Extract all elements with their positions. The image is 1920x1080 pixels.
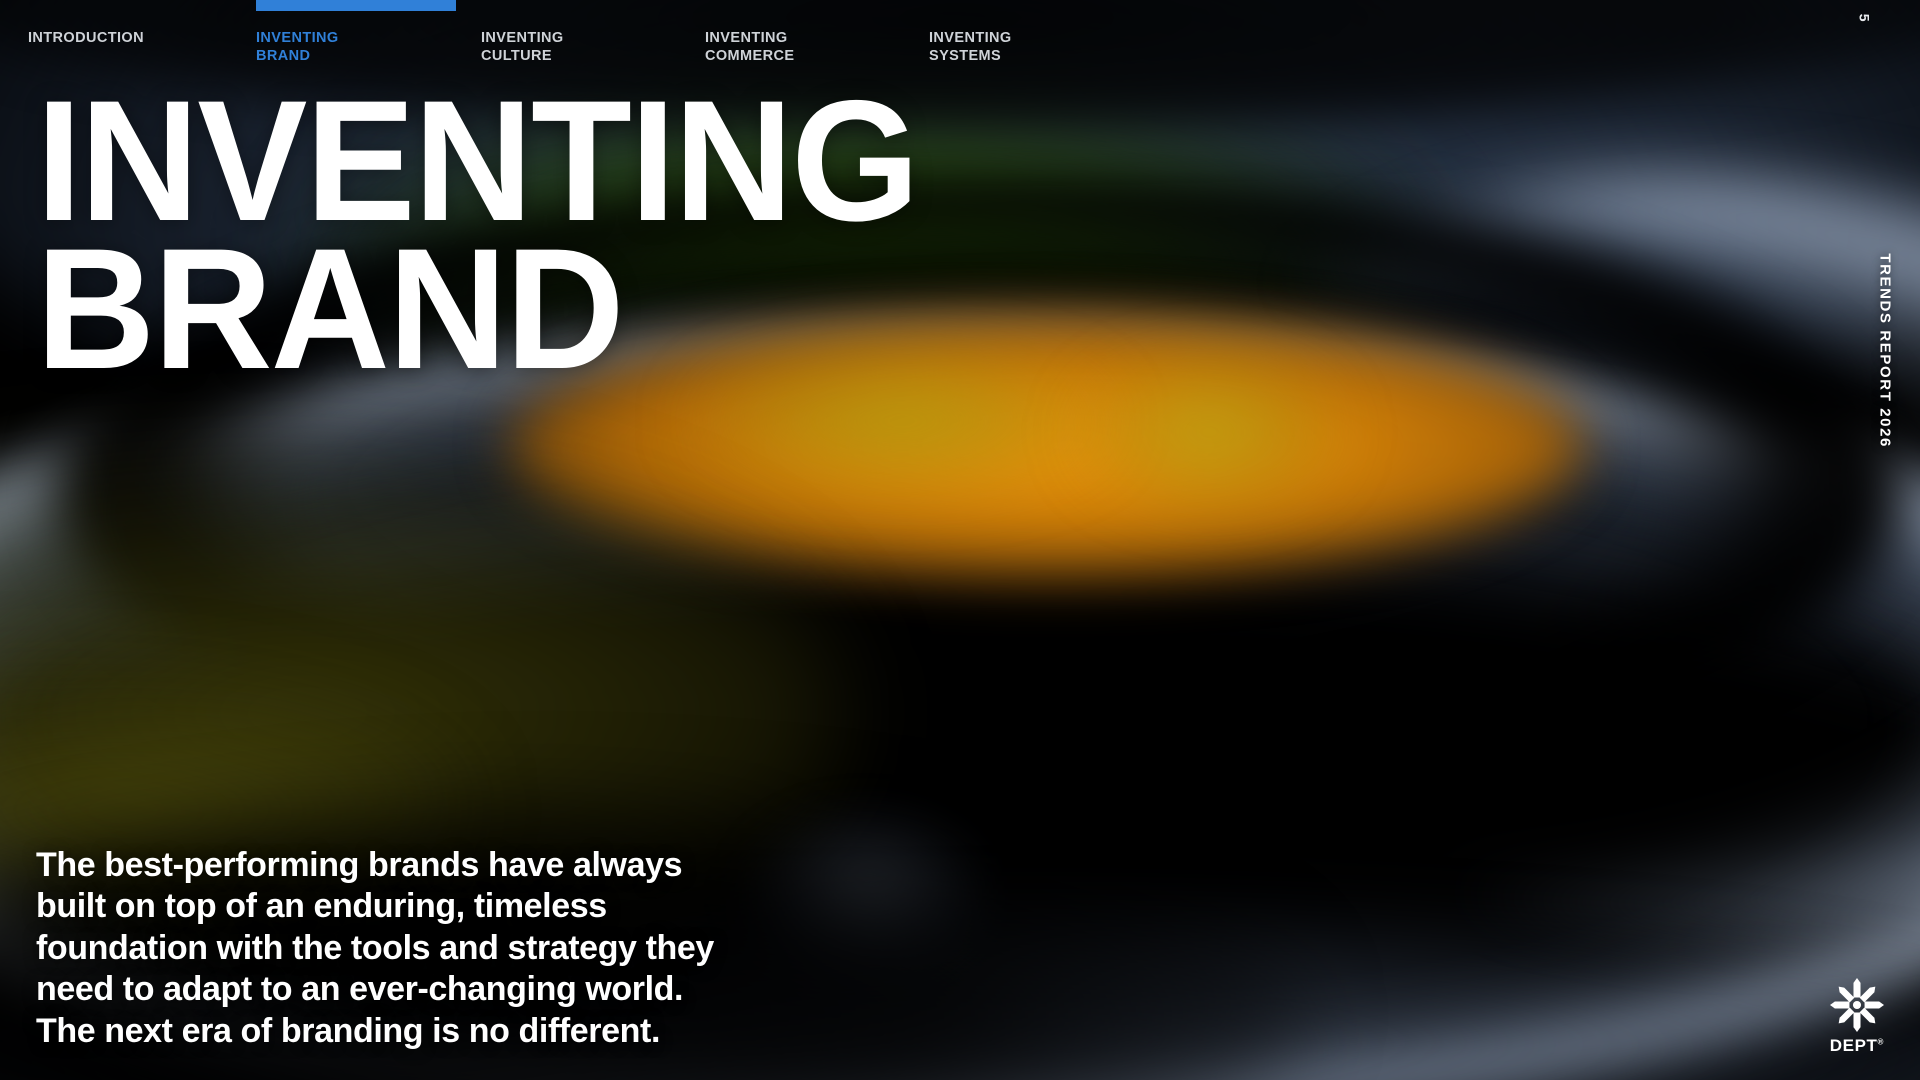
page-title-line-two: BRAND <box>36 236 918 384</box>
nav-item-inventing-culture[interactable]: INVENTING CULTURE <box>481 29 564 65</box>
bg-olive-hotspot-two <box>1075 356 1344 507</box>
nav-item-inventing-commerce[interactable]: INVENTING COMMERCE <box>705 29 794 65</box>
lede-line-four: need to adapt to an ever-changing world. <box>36 969 916 1010</box>
report-side-label: TRENDS REPORT 2026 <box>1877 253 1894 448</box>
page-title: INVENTING BRAND <box>36 88 918 384</box>
lede-paragraph: The best-performing brands have always b… <box>36 845 916 1052</box>
nav-item-inventing-brand[interactable]: INVENTING BRAND <box>256 29 339 65</box>
active-chapter-indicator-bar <box>256 0 456 11</box>
dept-wordmark: DEPT® <box>1830 1037 1884 1054</box>
nav-item-inventing-systems[interactable]: INVENTING SYSTEMS <box>929 29 1012 65</box>
dept-logo: DEPT® <box>1830 978 1884 1054</box>
lede-line-one: The best-performing brands have always <box>36 845 916 886</box>
chapter-navigation[interactable]: INTRODUCTION INVENTING BRAND INVENTING C… <box>0 0 1920 78</box>
dept-asterisk-icon <box>1830 978 1884 1032</box>
nav-item-introduction[interactable]: INTRODUCTION <box>28 29 144 47</box>
lede-line-three: foundation with the tools and strategy t… <box>36 928 916 969</box>
lede-line-two: built on top of an enduring, timeless <box>36 886 916 927</box>
lede-line-five: The next era of branding is no different… <box>36 1011 916 1052</box>
page-number: 5 <box>1856 14 1872 22</box>
slide-root: INTRODUCTION INVENTING BRAND INVENTING C… <box>0 0 1920 1080</box>
registered-trademark-symbol: ® <box>1878 1037 1885 1046</box>
dept-wordmark-text: DEPT <box>1830 1036 1878 1055</box>
